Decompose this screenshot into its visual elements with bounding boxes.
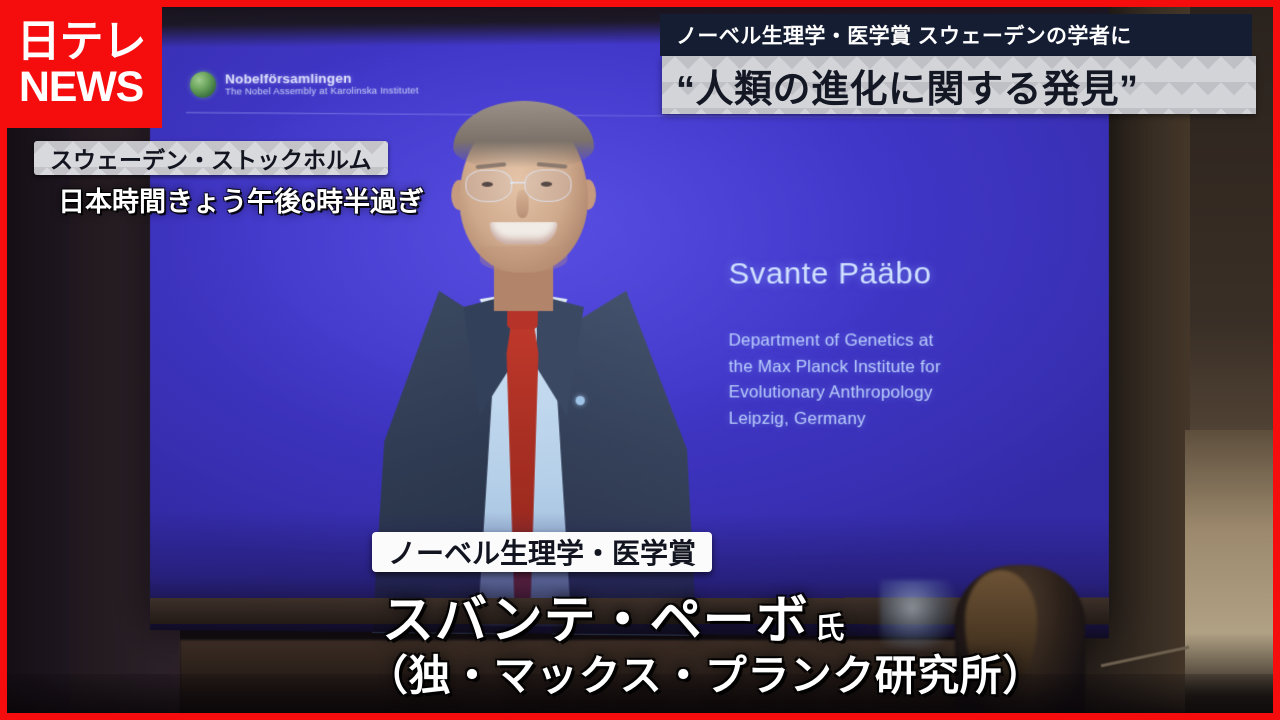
caption-person-name-suffix: 氏 [815,612,845,645]
channel-logo-line1: 日テレ [17,20,146,64]
dept-line-2: the Max Planck Institute for [729,354,941,380]
portrait-lapel-pin [576,396,585,405]
headline-kicker-bar: ノーベル生理学・医学賞 スウェーデンの学者に [660,14,1252,56]
caption-award-badge-text: ノーベル生理学・医学賞 [388,532,696,572]
caption-award-badge: ノーベル生理学・医学賞 [372,532,712,572]
nobel-org-name: Nobelförsamlingen [225,70,418,86]
headline-main-text: “人類の進化に関する発見” [662,58,1139,113]
globe-icon [190,72,216,98]
slide-laureate-name: Svante Pääbo [729,257,932,292]
location-badge: スウェーデン・ストックホルム [34,141,388,175]
portrait-hair [453,100,594,167]
location-badge-text: スウェーデン・ストックホルム [50,141,372,175]
dept-line-4: Leipzig, Germany [729,406,941,433]
glasses-icon-right-lens [525,169,572,202]
portrait-chin [480,246,568,272]
channel-logo: 日テレ NEWS [0,0,162,128]
slide-laureate-department: Department of Genetics at the Max Planck… [729,328,941,433]
headline-kicker-text: ノーベル生理学・医学賞 スウェーデンの学者に [660,20,1132,50]
caption-affiliation: （独・マックス・プランク研究所） [366,642,1045,703]
location-timestamp: 日本時間きょう午後6時半過ぎ [58,180,424,219]
headline-main-bar: “人類の進化に関する発見” [662,56,1256,114]
portrait-smile [490,222,557,244]
channel-logo-line2: NEWS [19,66,143,109]
glasses-icon-bridge [510,182,524,184]
foreground-flower-arrangement [880,580,960,650]
dept-line-3: Evolutionary Anthropology [729,380,941,407]
glasses-icon-left-lens [465,170,512,202]
dept-line-1: Department of Genetics at [729,328,941,354]
broadcast-frame: Nobelförsamlingen The Nobel Assembly at … [0,0,1280,720]
